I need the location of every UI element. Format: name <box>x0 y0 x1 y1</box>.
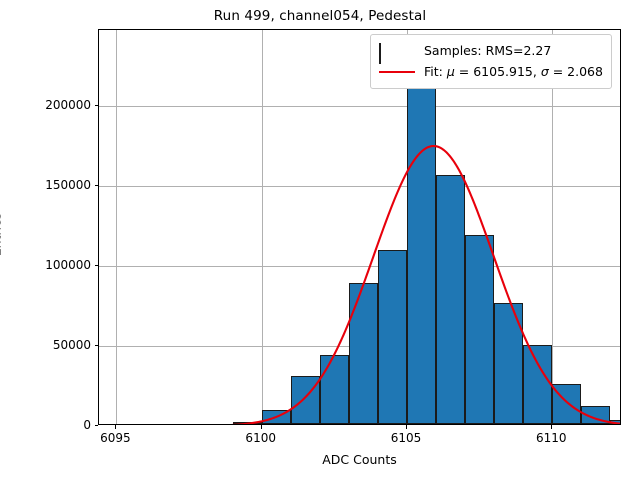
legend-label-samples: Samples: RMS=2.27 <box>424 43 551 58</box>
x-tick <box>406 425 407 429</box>
legend-label-fit: Fit: μ = 6105.915, σ = 2.068 <box>424 64 603 79</box>
plot-area <box>99 30 620 424</box>
legend-fit-mu-value: = 6105.915, <box>455 64 541 79</box>
legend-entry-fit: Fit: μ = 6105.915, σ = 2.068 <box>379 61 603 82</box>
legend-line-swatch-icon <box>379 65 415 79</box>
fit-curve <box>99 30 620 424</box>
legend-fit-sigma-value: = 2.068 <box>549 64 603 79</box>
x-tick <box>551 425 552 429</box>
x-tick-label: 6105 <box>391 431 422 445</box>
figure-canvas: Run 499, channel054, Pedestal 6095610061… <box>0 0 640 480</box>
legend-fit-prefix: Fit: <box>424 64 447 79</box>
x-tick <box>261 425 262 429</box>
y-tick-label: 100000 <box>45 258 91 272</box>
chart-title: Run 499, channel054, Pedestal <box>0 8 640 24</box>
x-axis-label: ADC Counts <box>98 452 621 467</box>
y-tick <box>95 185 99 186</box>
gaussian-fit-path <box>99 146 620 424</box>
y-tick <box>95 105 99 106</box>
legend-box: Samples: RMS=2.27 Fit: μ = 6105.915, σ =… <box>370 34 612 89</box>
y-tick <box>95 345 99 346</box>
legend-fit-mu-symbol: μ <box>447 64 455 79</box>
x-tick-label: 6110 <box>536 431 567 445</box>
x-tick-label: 6095 <box>100 431 131 445</box>
legend-bar-swatch-icon <box>379 44 415 58</box>
legend-entry-samples: Samples: RMS=2.27 <box>379 40 603 61</box>
y-tick-label: 150000 <box>45 178 91 192</box>
y-tick <box>95 265 99 266</box>
x-tick <box>115 425 116 429</box>
y-axis-label: Entries <box>0 213 4 257</box>
y-tick-labels: 050000100000150000200000 <box>0 0 91 480</box>
y-tick-label: 0 <box>83 418 91 432</box>
legend-fit-sigma-symbol: σ <box>541 64 549 79</box>
y-tick-label: 50000 <box>53 338 91 352</box>
y-tick-label: 200000 <box>45 98 91 112</box>
y-tick <box>95 425 99 426</box>
x-tick-label: 6100 <box>245 431 276 445</box>
